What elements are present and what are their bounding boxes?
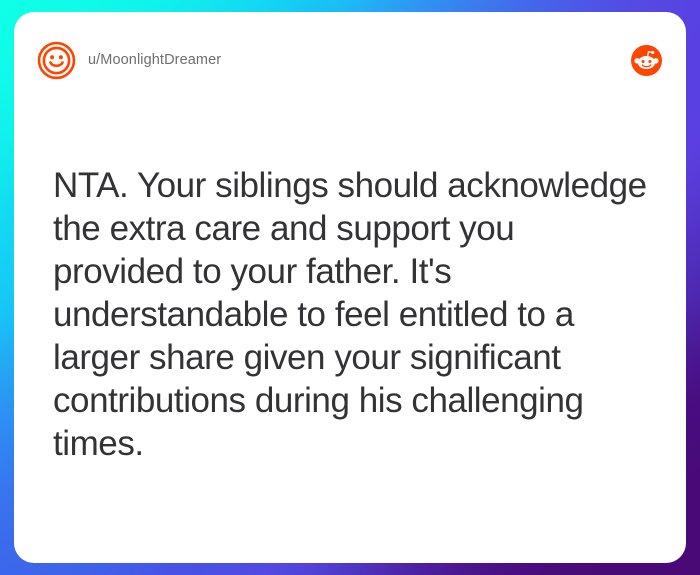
comment-text: NTA. Your siblings should acknowledge th… xyxy=(53,164,650,465)
reddit-snoo-icon[interactable] xyxy=(631,45,662,76)
comment-card: u/MoonlightDreamer NTA. Your siblin xyxy=(14,12,686,563)
card-body: NTA. Your siblings should acknowledge th… xyxy=(53,164,650,465)
author-username: u/MoonlightDreamer xyxy=(88,52,221,68)
smiley-face-icon xyxy=(37,41,76,80)
author-block[interactable]: u/MoonlightDreamer xyxy=(37,41,631,80)
card-header: u/MoonlightDreamer xyxy=(14,12,686,108)
gradient-backdrop: u/MoonlightDreamer NTA. Your siblin xyxy=(0,0,700,575)
